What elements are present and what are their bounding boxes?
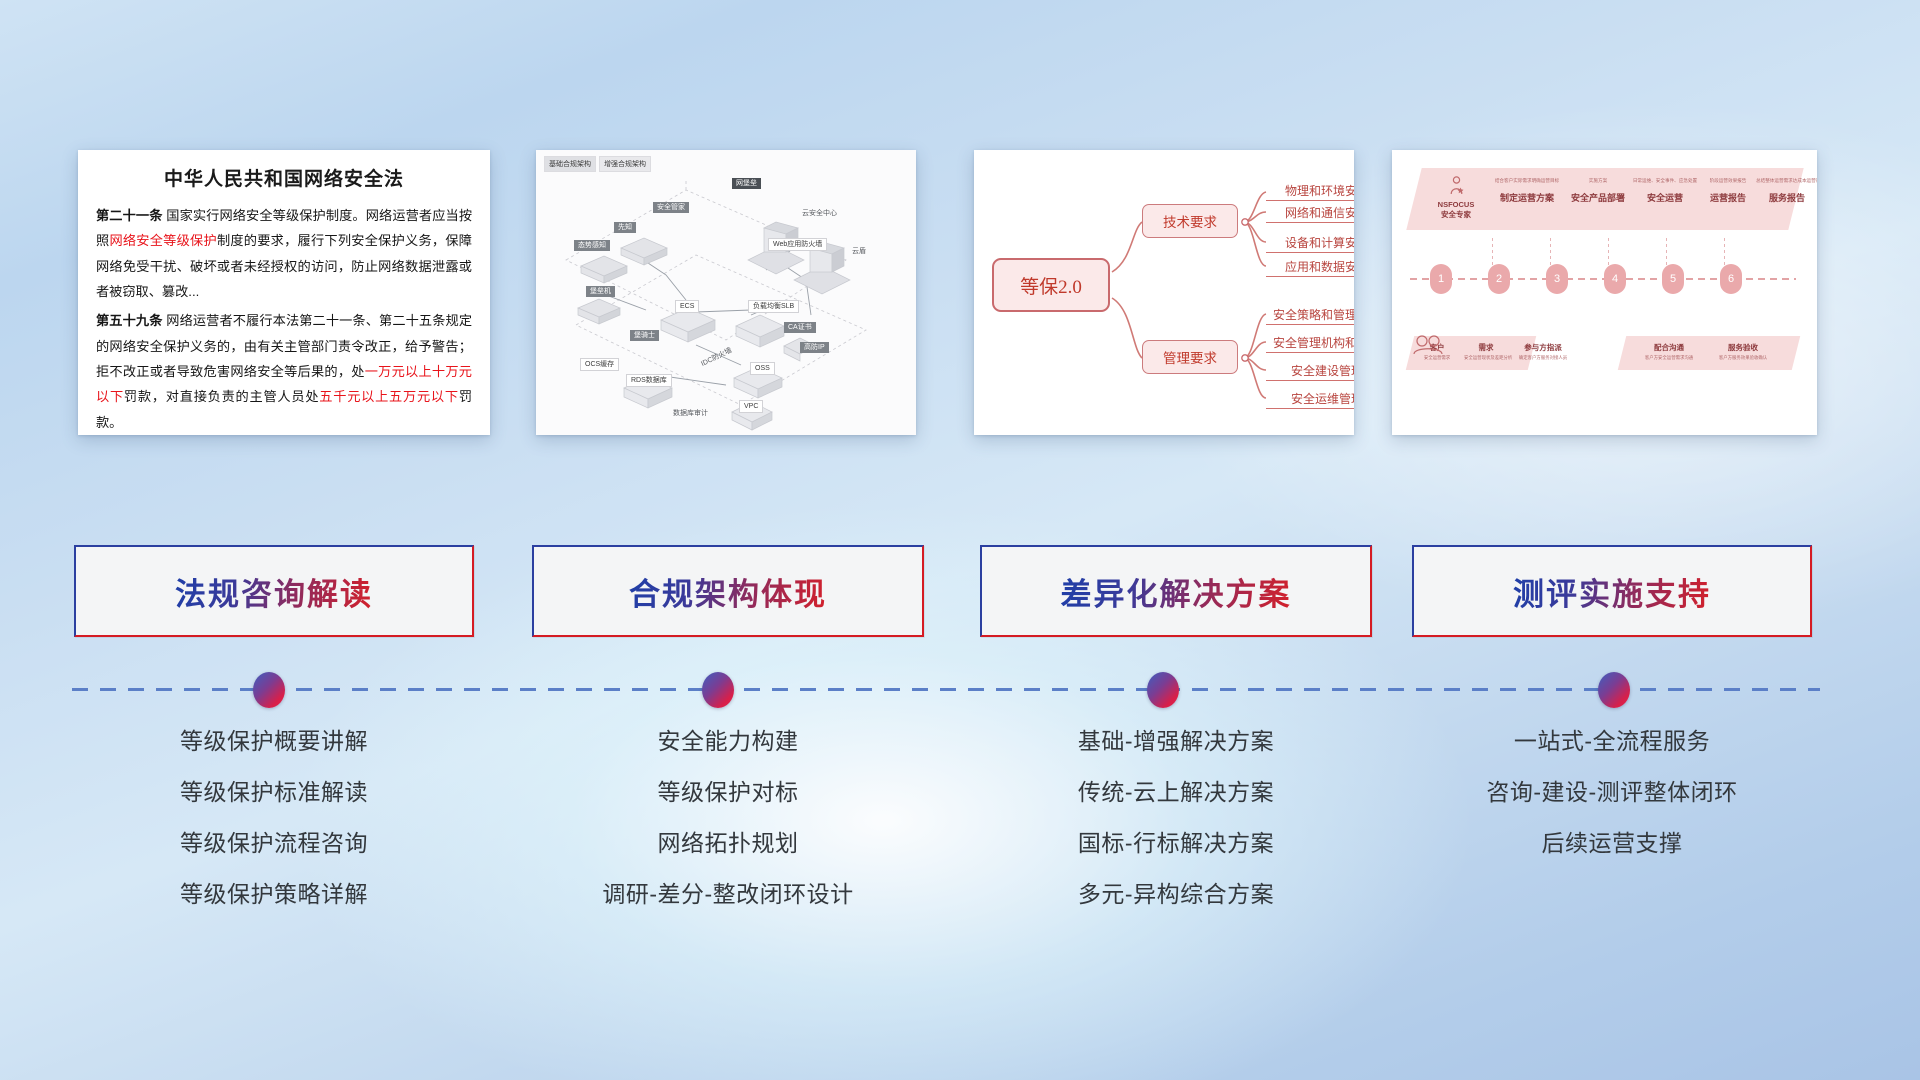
detail-item-2-2: 网络拓扑规划 xyxy=(532,832,924,855)
roadmap-tag-1: 需求 安全运营现状及差距分析 xyxy=(1464,342,1508,361)
arch-node-16: CA证书 xyxy=(784,322,816,333)
detail-item-3-3: 多元-异构综合方案 xyxy=(980,883,1372,906)
roadmap-tag-3-main: 配合沟通 xyxy=(1638,342,1700,353)
mindmap-root: 等保2.0 xyxy=(992,258,1110,312)
roadmap-tag-1-main: 需求 xyxy=(1464,342,1508,353)
mindmap-leaf-t1: 网络和通信安全 xyxy=(1266,204,1354,223)
law-paragraph-2: 第五十九条 网络运营者不履行本法第二十一条、第二十五条规定的网络安全保护义务的，… xyxy=(96,308,472,435)
image-card-row: 中华人民共和国网络安全法 第二十一条 国家实行网络安全等级保护制度。网络运营者应… xyxy=(0,150,1920,440)
detail-item-1-0: 等级保护概要讲解 xyxy=(74,730,474,753)
mindmap-branch-management[interactable]: 管理要求 xyxy=(1142,340,1238,374)
detail-item-1-3: 等级保护策略详解 xyxy=(74,883,474,906)
roadmap-tag-1-sub: 安全运营现状及差距分析 xyxy=(1464,355,1508,361)
detail-item-4-0: 一站式-全流程服务 xyxy=(1412,730,1812,753)
mindmap-diagram: 等保2.0 技术要求 管理要求 物理和环境安全 网络和通信安全 设备和计算安全 … xyxy=(974,150,1354,435)
heading-box-4[interactable]: 测评实施支持 xyxy=(1412,545,1812,637)
roadmap-stage-1: 实施方案 安全产品部署 xyxy=(1564,178,1632,204)
timeline xyxy=(0,660,1920,720)
detail-column-4: 一站式-全流程服务 咨询-建设-测评整体闭环 后续运营支撑 xyxy=(1412,730,1812,883)
timeline-dot-1[interactable] xyxy=(253,672,285,708)
arch-node-14: 数据库审计 xyxy=(669,408,712,419)
arch-node-9: 堡骑士 xyxy=(630,330,659,341)
roadmap-stage-3-sub: 阶段运营效果报告 xyxy=(1698,178,1758,184)
roadmap-stage-3: 阶段运营效果报告 运营报告 xyxy=(1698,178,1758,204)
roadmap-step-6: 6 xyxy=(1720,264,1742,294)
mindmap-leaf-t0: 物理和环境安全 xyxy=(1266,182,1354,201)
roadmap-stage-0: 结合客户实际需求明确运营目标 制定运营方案 xyxy=(1490,178,1564,204)
arch-node-15: 云安全中心 xyxy=(798,208,841,219)
mindmap-leaf-m1: 安全管理机构和人员 xyxy=(1266,334,1354,353)
roadmap-step-2: 2 xyxy=(1488,264,1510,294)
detail-item-3-2: 国标-行标解决方案 xyxy=(980,832,1372,855)
heading-row: 法规咨询解读 合规架构体现 差异化解决方案 测评实施支持 xyxy=(0,545,1920,645)
heading-label-4: 测评实施支持 xyxy=(1513,569,1711,614)
cloud-architecture-card[interactable]: 基础合规架构 增强合规架构 xyxy=(536,150,916,435)
heading-label-3: 差异化解决方案 xyxy=(1061,569,1292,614)
detail-item-3-1: 传统-云上解决方案 xyxy=(980,781,1372,804)
roadmap-stage-1-main: 安全产品部署 xyxy=(1564,191,1632,204)
nsfocus-expert-line2: 安全专家 xyxy=(1424,209,1488,220)
arch-node-0: 网堡垒 xyxy=(732,178,761,189)
roadmap-step-1: 1 xyxy=(1430,264,1452,294)
customer-icon xyxy=(1406,332,1466,378)
roadmap-tag-4-sub: 客户方服务效果验收确认 xyxy=(1712,355,1774,361)
detail-item-1-1: 等级保护标准解读 xyxy=(74,781,474,804)
arch-node-17: 高防IP xyxy=(800,342,829,353)
nsfocus-expert: NSFOCUS 安全专家 xyxy=(1424,176,1488,220)
detail-column-2: 安全能力构建 等级保护对标 网络拓扑规划 调研-差分-整改闭环设计 xyxy=(532,730,924,934)
arch-node-4: 堡垒机 xyxy=(586,286,615,297)
heading-box-2[interactable]: 合规架构体现 xyxy=(532,545,924,637)
roadmap-step-4: 4 xyxy=(1604,264,1626,294)
arch-node-3: 态势感知 xyxy=(574,240,610,251)
architecture-diagram: 基础合规架构 增强合规架构 xyxy=(536,150,916,435)
person-star-glyph xyxy=(1448,176,1465,195)
mindmap-leaf-m0: 安全策略和管理制度 xyxy=(1266,306,1354,325)
roadmap-stage-2-main: 安全运营 xyxy=(1628,191,1702,204)
detail-item-3-0: 基础-增强解决方案 xyxy=(980,730,1372,753)
mindmap-collapse-tech xyxy=(1242,219,1248,225)
roadmap-tag-4: 服务验收 客户方服务效果验收确认 xyxy=(1712,342,1774,361)
roadmap-stage-3-main: 运营报告 xyxy=(1698,191,1758,204)
roadmap-top-band-content: NSFOCUS 安全专家 结合客户实际需求明确运营目标 制定运营方案 实施方案 … xyxy=(1414,168,1796,230)
law-seg-1-1: 网络安全等级保护 xyxy=(109,233,217,248)
roadmap-stage-4: 总结整体运营需求达成本运营效果 服务报告 xyxy=(1756,178,1817,204)
arch-node-5: ECS xyxy=(675,300,699,313)
roadmap-stage-2: 日常运维、安全事件、应急处置 安全运营 xyxy=(1628,178,1702,204)
timeline-dot-3[interactable] xyxy=(1147,672,1179,708)
arch-node-10: OCS缓存 xyxy=(580,358,619,371)
detail-item-4-1: 咨询-建设-测评整体闭环 xyxy=(1412,781,1812,804)
roadmap-step-5: 5 xyxy=(1662,264,1684,294)
detail-column-1: 等级保护概要讲解 等级保护标准解读 等级保护流程咨询 等级保护策略详解 xyxy=(74,730,474,934)
heading-label-2: 合规架构体现 xyxy=(629,569,827,614)
person-star-icon xyxy=(1424,176,1488,198)
nsfocus-roadmap-card[interactable]: NSFOCUS 安全专家 结合客户实际需求明确运营目标 制定运营方案 实施方案 … xyxy=(1392,150,1817,435)
mindmap-branch-technical[interactable]: 技术要求 xyxy=(1142,204,1238,238)
detail-item-2-3: 调研-差分-整改闭环设计 xyxy=(532,883,924,906)
detail-column-row: 等级保护概要讲解 等级保护标准解读 等级保护流程咨询 等级保护策略详解 安全能力… xyxy=(0,730,1920,960)
mindmap-leaf-m2: 安全建设管理 xyxy=(1266,362,1354,381)
arch-node-11: RDS数据库 xyxy=(626,374,672,387)
roadmap-stage-2-sub: 日常运维、安全事件、应急处置 xyxy=(1628,178,1702,184)
detail-item-1-2: 等级保护流程咨询 xyxy=(74,832,474,855)
detail-column-3: 基础-增强解决方案 传统-云上解决方案 国标-行标解决方案 多元-异构综合方案 xyxy=(980,730,1372,934)
law-seg-2-2: 罚款，对直接负责的主管人员处 xyxy=(124,389,319,404)
mindmap-card[interactable]: 等保2.0 技术要求 管理要求 物理和环境安全 网络和通信安全 设备和计算安全 … xyxy=(974,150,1354,435)
heading-box-3[interactable]: 差异化解决方案 xyxy=(980,545,1372,637)
roadmap-stage-4-sub: 总结整体运营需求达成本运营效果 xyxy=(1756,178,1817,184)
mindmap-leaf-t2: 设备和计算安全 xyxy=(1266,234,1354,253)
timeline-dot-4[interactable] xyxy=(1598,672,1630,708)
arch-node-13: VPC xyxy=(739,400,763,413)
mindmap-leaf-t3: 应用和数据安全 xyxy=(1266,258,1354,277)
heading-box-1[interactable]: 法规咨询解读 xyxy=(74,545,474,637)
nsfocus-expert-line1: NSFOCUS xyxy=(1424,200,1488,209)
roadmap-step-3: 3 xyxy=(1546,264,1568,294)
mindmap-collapse-mgmt xyxy=(1242,355,1248,361)
mindmap-leaf-m3: 安全运维管理 xyxy=(1266,390,1354,409)
roadmap-stage-0-sub: 结合客户实际需求明确运营目标 xyxy=(1490,178,1564,184)
detail-item-2-1: 等级保护对标 xyxy=(532,781,924,804)
detail-item-4-2: 后续运营支撑 xyxy=(1412,832,1812,855)
roadmap-diagram: NSFOCUS 安全专家 结合客户实际需求明确运营目标 制定运营方案 实施方案 … xyxy=(1392,150,1817,435)
roadmap-stage-4-main: 服务报告 xyxy=(1756,191,1817,204)
roadmap-tag-2-sub: 确定客户方服务对接人员 xyxy=(1512,355,1574,361)
timeline-dot-2[interactable] xyxy=(702,672,734,708)
law-seg-2-3: 五千元以上五万元以下 xyxy=(319,389,459,404)
heading-label-1: 法规咨询解读 xyxy=(175,569,373,614)
roadmap-stage-1-sub: 实施方案 xyxy=(1564,178,1632,184)
roadmap-tag-3-sub: 客户方安全运营需求沟通 xyxy=(1638,355,1700,361)
law-article-number-1: 第二十一条 xyxy=(96,208,163,223)
law-paragraph-1: 第二十一条 国家实行网络安全等级保护制度。网络运营者应当按照网络安全等级保护制度… xyxy=(96,203,472,304)
roadmap-tag-2-main: 参与方指派 xyxy=(1512,342,1574,353)
law-article-number-2: 第五十九条 xyxy=(96,313,163,328)
roadmap-tag-2: 参与方指派 确定客户方服务对接人员 xyxy=(1512,342,1574,361)
timeline-dashed-line xyxy=(72,688,1820,691)
arch-node-12: OSS xyxy=(750,362,775,375)
law-title: 中华人民共和国网络安全法 xyxy=(96,164,472,191)
arch-node-1: 安全管家 xyxy=(653,202,689,213)
arch-node-7: Web应用防火墙 xyxy=(768,238,827,251)
law-text-card[interactable]: 中华人民共和国网络安全法 第二十一条 国家实行网络安全等级保护制度。网络运营者应… xyxy=(78,150,490,435)
arch-node-8: 云盾 xyxy=(848,246,870,257)
law-body: 中华人民共和国网络安全法 第二十一条 国家实行网络安全等级保护制度。网络运营者应… xyxy=(78,150,490,435)
roadmap-stage-0-main: 制定运营方案 xyxy=(1490,191,1564,204)
arch-node-6: 负载均衡SLB xyxy=(748,300,799,313)
slide-canvas: 中华人民共和国网络安全法 第二十一条 国家实行网络安全等级保护制度。网络运营者应… xyxy=(0,0,1920,1080)
roadmap-tag-3: 配合沟通 客户方安全运营需求沟通 xyxy=(1638,342,1700,361)
detail-item-2-0: 安全能力构建 xyxy=(532,730,924,753)
arch-node-2: 先知 xyxy=(614,222,636,233)
roadmap-tag-4-main: 服务验收 xyxy=(1712,342,1774,353)
